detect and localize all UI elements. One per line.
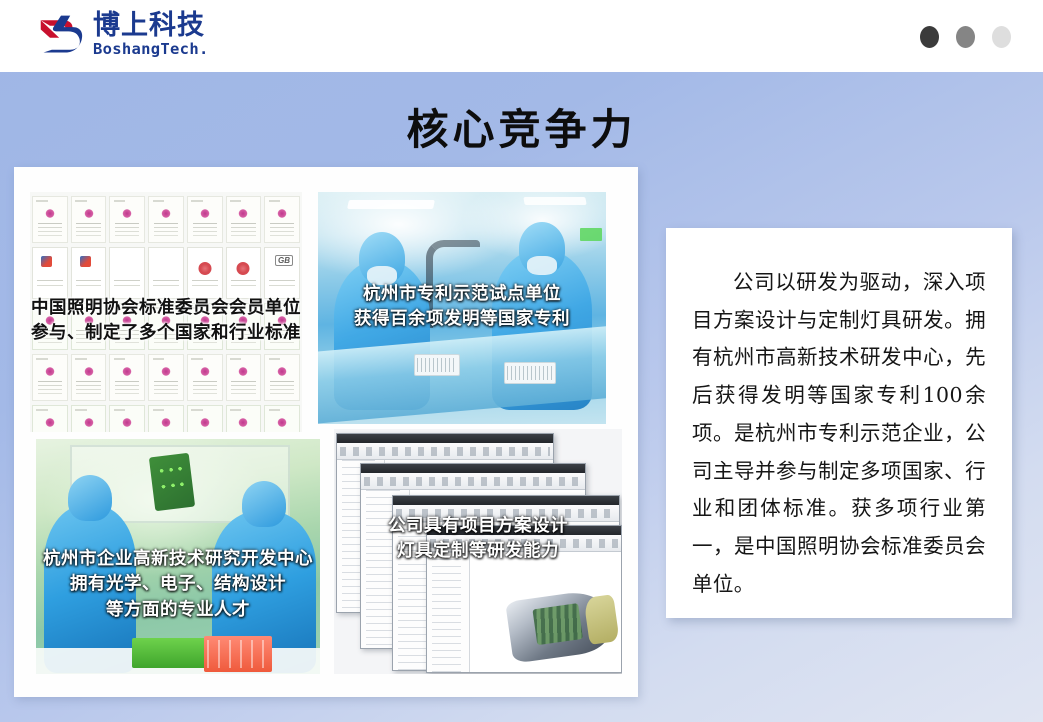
- cad-window-titlebar: [337, 434, 553, 443]
- certificate-thumb: [109, 303, 145, 350]
- product-box: [414, 354, 460, 376]
- certificate-thumb: [109, 405, 145, 432]
- certificate-thumb: [148, 196, 184, 243]
- logo-wordmark: 博上科技 BoshangTech.: [93, 12, 209, 58]
- slide-page: 博上科技 BoshangTech. 核心竞争力: [0, 0, 1043, 722]
- cad-window-titlebar: [361, 464, 585, 473]
- cad-window-titlebar: [427, 526, 621, 535]
- tile-cad-design[interactable]: 公司具有项目方案设计 灯具定制等研发能力: [334, 429, 622, 674]
- tile-rnd-center[interactable]: 杭州市企业高新技术研究开发中心 拥有光学、电子、结构设计 等方面的专业人才: [36, 439, 320, 674]
- slide-pagination-dots[interactable]: [920, 26, 1011, 48]
- ceiling-light: [347, 200, 435, 209]
- certificate-thumb: [148, 405, 184, 432]
- cad-window: [426, 525, 622, 673]
- certificate-thumb: [109, 196, 145, 243]
- certificate-thumb-wide: [148, 247, 184, 299]
- certificate-thumb: [187, 354, 223, 401]
- certificate-thumb: [264, 196, 300, 243]
- certificate-thumb: [226, 303, 262, 350]
- certificate-thumb: [32, 196, 68, 243]
- certificate-thumb-wide: [32, 247, 68, 299]
- certificate-thumb: [226, 405, 262, 432]
- rnd-center-image: [36, 439, 320, 674]
- page-title: 核心竞争力: [0, 96, 1043, 157]
- lamp-assembly-model: [505, 589, 613, 665]
- logo-english-name: BoshangTech.: [93, 42, 209, 58]
- certificate-thumb: [264, 303, 300, 350]
- certificate-thumb: [264, 405, 300, 432]
- certificate-thumb: [187, 405, 223, 432]
- slide-dot-2[interactable]: [956, 26, 975, 48]
- pcb-board: [149, 453, 195, 511]
- certificate-thumb: [187, 303, 223, 350]
- certificate-thumb: [32, 405, 68, 432]
- cad-window-ribbon: [393, 505, 619, 522]
- certificate-thumb-wide: [187, 247, 223, 299]
- cad-window-ribbon: [361, 473, 585, 490]
- logo-chinese-name: 博上科技: [93, 12, 209, 39]
- certificate-thumb: [71, 196, 107, 243]
- description-paragraph: 公司以研发为驱动，深入项目方案设计与定制灯具研发。拥有杭州市高新技术研发中心，先…: [692, 264, 986, 603]
- product-box: [504, 362, 556, 384]
- certificate-thumb: [32, 303, 68, 350]
- header-bar: 博上科技 BoshangTech.: [0, 0, 1043, 72]
- gallery-card: GB: [14, 167, 638, 697]
- certificate-thumb: [71, 303, 107, 350]
- certificate-thumb-wide: GB: [264, 247, 300, 299]
- certificate-thumb: [109, 354, 145, 401]
- description-panel: 公司以研发为驱动，深入项目方案设计与定制灯具研发。拥有杭州市高新技术研发中心，先…: [666, 228, 1012, 618]
- certificate-thumb: [148, 354, 184, 401]
- slide-dot-3[interactable]: [992, 26, 1011, 48]
- certificate-thumb: [226, 196, 262, 243]
- certificates-image: GB: [30, 192, 302, 432]
- tile-certificates[interactable]: GB: [30, 192, 302, 432]
- boshang-b-mark-icon: [38, 12, 84, 58]
- certificate-thumb: [226, 354, 262, 401]
- component-crate: [132, 638, 208, 668]
- certificate-thumb: [187, 196, 223, 243]
- cad-window-ribbon: [427, 535, 621, 552]
- slide-dot-1[interactable]: [920, 26, 939, 48]
- certificate-thumb-wide: [226, 247, 262, 299]
- certificate-thumb-wide: [71, 247, 107, 299]
- component-crate: [204, 636, 272, 672]
- cad-feature-tree: [427, 552, 470, 672]
- cad-canvas: [470, 552, 621, 672]
- certificate-thumb: [32, 354, 68, 401]
- ceiling-light: [523, 197, 586, 205]
- certificate-thumb: [71, 354, 107, 401]
- certificate-thumb: [148, 303, 184, 350]
- tile-cleanroom[interactable]: 杭州市专利示范试点单位 获得百余项发明等国家专利: [318, 192, 606, 424]
- certificate-thumb-wide: [109, 247, 145, 299]
- certificate-thumb: [264, 354, 300, 401]
- certificate-thumb: [71, 405, 107, 432]
- cad-collage-image: [334, 429, 622, 674]
- cad-window-titlebar: [393, 496, 619, 505]
- company-logo[interactable]: 博上科技 BoshangTech.: [38, 12, 209, 58]
- cleanroom-image: [318, 192, 606, 424]
- robot-arm: [426, 240, 480, 328]
- cad-window-ribbon: [337, 443, 553, 460]
- status-panel: [580, 228, 602, 241]
